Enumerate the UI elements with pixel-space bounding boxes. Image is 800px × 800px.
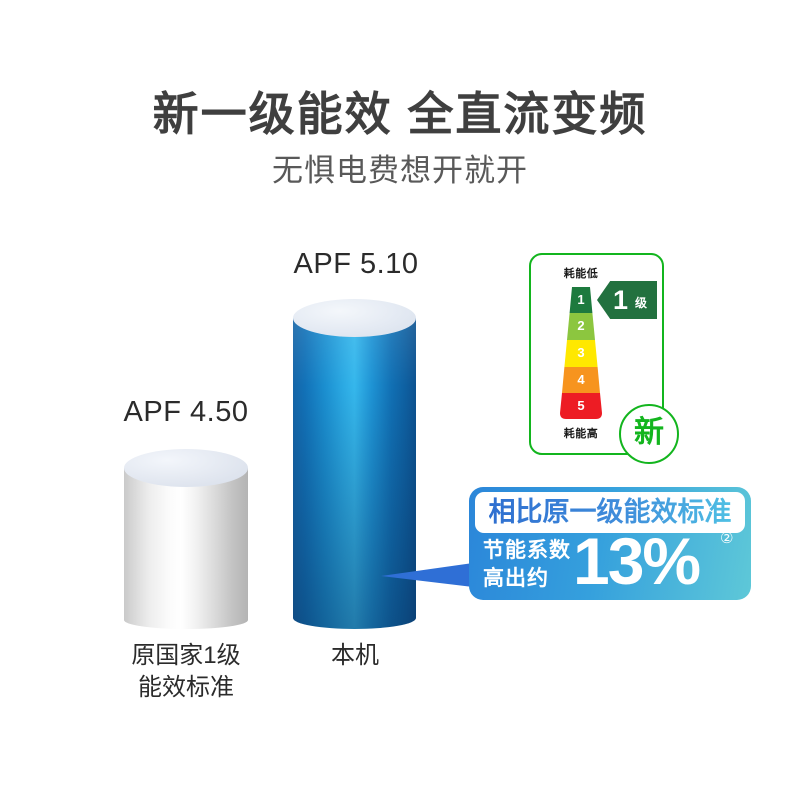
callout-text-lines: 节能系数 高出约	[483, 537, 575, 592]
energy-efficiency-poster: 新一级能效 全直流变频 无惧电费想开就开 APF 4.50 APF 5.10 原…	[0, 0, 800, 800]
cylinder-top-silver	[124, 449, 248, 487]
energy-band-2: 2	[553, 313, 609, 339]
bar-caption-right: 本机	[275, 640, 435, 672]
energy-band-1: 1	[553, 287, 609, 313]
callout-pointer-icon	[381, 563, 473, 589]
energy-grade-unit: 级	[635, 296, 647, 310]
bar-value-label-right: APF 5.10	[276, 248, 436, 281]
energy-band-4: 4	[553, 367, 609, 393]
cylinder-body-silver	[124, 468, 248, 629]
bar-caption-left: 原国家1级 能效标准	[106, 640, 266, 704]
bar-value-label-left: APF 4.50	[106, 396, 266, 429]
callout-body: 节能系数 高出约 13% ②	[469, 535, 751, 597]
callout-footnote-mark: ②	[720, 531, 733, 547]
page-subtitle: 无惧电费想开就开	[0, 152, 800, 189]
callout-percent-value: 13%	[573, 525, 699, 597]
callout-line-2: 高出约	[483, 565, 575, 593]
energy-scale: 1 2 3 4 5	[553, 287, 609, 419]
energy-caption-high: 耗能高	[531, 425, 631, 441]
savings-callout: 相比原一级能效标准 节能系数 高出约 13% ②	[469, 487, 751, 600]
energy-band-3: 3	[553, 340, 609, 366]
bar-cylinder-baseline	[124, 449, 248, 629]
energy-grade-number: 1	[613, 284, 628, 316]
new-standard-badge: 新	[619, 404, 679, 464]
energy-band-5: 5	[553, 393, 609, 419]
page-title: 新一级能效 全直流变频	[0, 88, 800, 141]
cylinder-top-blue	[293, 299, 416, 337]
energy-caption-low: 耗能低	[531, 265, 631, 281]
callout-line-1: 节能系数	[483, 537, 575, 565]
